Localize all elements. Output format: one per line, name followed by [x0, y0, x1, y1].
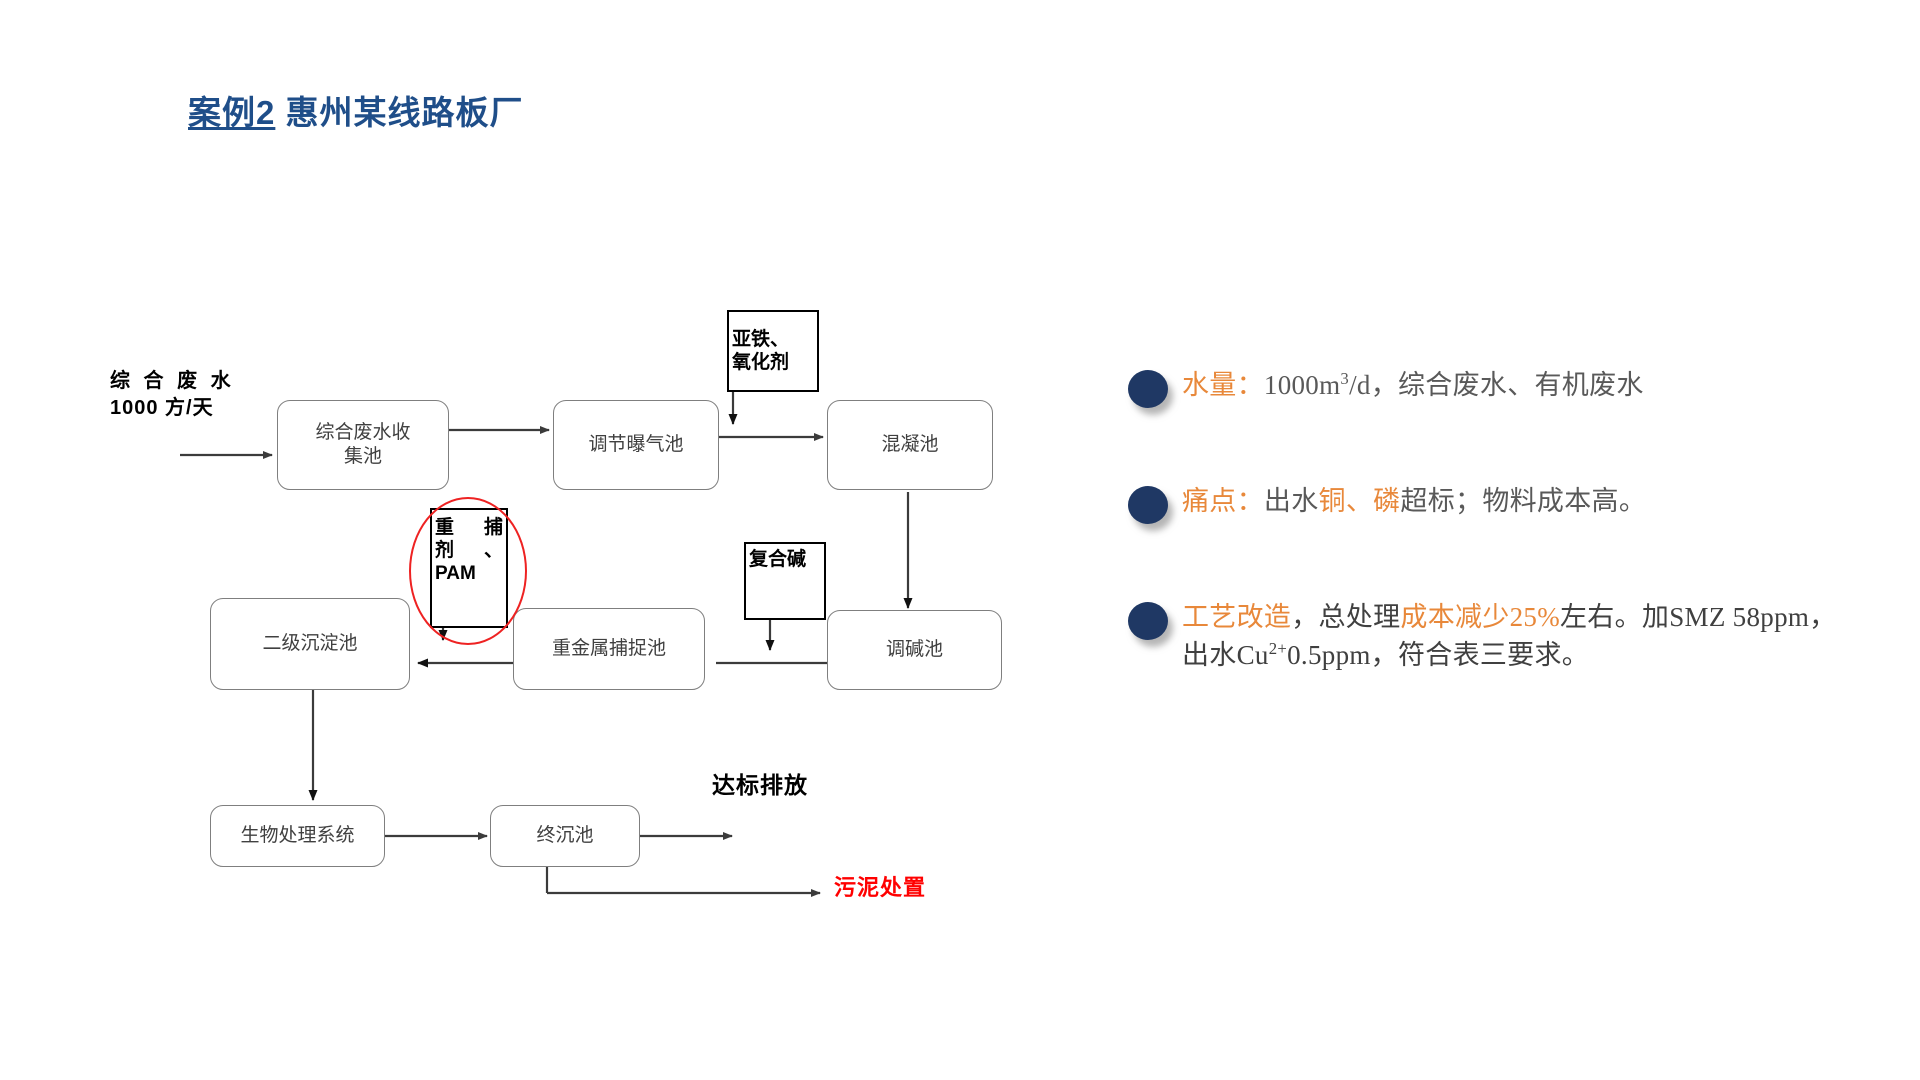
process-box-secondary-settling-tank[interactable]: 二级沉淀池 — [210, 598, 410, 690]
process-box-label: 二级沉淀池 — [262, 632, 357, 656]
process-box-final-settling-tank[interactable]: 终沉池 — [490, 805, 640, 867]
bullet-body-text: ，总处理 — [1291, 602, 1400, 632]
process-box-collect-tank[interactable]: 综合废水收集池 — [277, 400, 449, 490]
summary-bullet-list: 水量：1000m3/d，综合废水、有机废水 痛点：出水铜、磷超标；物料成本高。 … — [1120, 360, 1860, 675]
bullet-item-water-volume: 水量：1000m3/d，综合废水、有机废水 — [1120, 360, 1860, 418]
bullet-text-pain-points: 痛点：出水铜、磷超标；物料成本高。 — [1182, 476, 1646, 520]
process-box-label: 调节曝气池 — [588, 433, 683, 457]
process-box-label: 终沉池 — [536, 824, 593, 848]
bullet-dot-icon — [1128, 486, 1168, 524]
inlet-flow-label-line1: 综 合 废 水 — [110, 368, 235, 395]
process-box-aeration-tank[interactable]: 调节曝气池 — [553, 400, 719, 490]
process-box-label: 生物处理系统 — [240, 824, 354, 848]
bullet-dot-icon — [1128, 370, 1168, 408]
process-box-label: 综合废水收集池 — [315, 421, 410, 470]
inlet-flow-label: 综 合 废 水 1000 方/天 — [110, 368, 235, 422]
bullet-body-text-2: 超标；物料成本高。 — [1400, 486, 1646, 516]
bullet-accent-label: 工艺改造 — [1182, 602, 1291, 632]
bullet-dot-icon — [1128, 602, 1168, 640]
process-box-label: 调碱池 — [886, 638, 943, 662]
process-box-label: 混凝池 — [881, 433, 938, 457]
bullet-superscript: 3 — [1340, 369, 1349, 388]
bullet-accent-label: 痛点： — [1182, 486, 1264, 516]
process-box-coagulation-tank[interactable]: 混凝池 — [827, 400, 993, 490]
process-box-label: 重金属捕捉池 — [552, 637, 666, 661]
highlight-ellipse — [409, 497, 527, 645]
bullet-text-process-improvement: 工艺改造，总处理成本减少25%左右。加SMZ 58ppm，出水Cu2+0.5pp… — [1182, 592, 1860, 675]
process-box-metal-capture-tank[interactable]: 重金属捕捉池 — [513, 608, 705, 690]
bullet-text-water-volume: 水量：1000m3/d，综合废水、有机废水 — [1182, 360, 1644, 404]
diagram-connectors — [0, 0, 1060, 1080]
bullet-accent-label: 水量： — [1182, 370, 1264, 400]
reagent-box-ferrous-oxidant[interactable]: 亚铁、 氧化剂 — [727, 310, 819, 392]
process-flow-diagram: 综 合 废 水 1000 方/天 综合废水收集池 调节曝气池 混凝池 调碱池 重… — [0, 0, 1060, 1080]
reagent-label-line1: 复合碱 — [749, 548, 821, 571]
bullet-item-process-improvement: 工艺改造，总处理成本减少25%左右。加SMZ 58ppm，出水Cu2+0.5pp… — [1120, 592, 1860, 675]
bullet-item-pain-points: 痛点：出水铜、磷超标；物料成本高。 — [1120, 476, 1860, 534]
bullet-dot-wrap — [1120, 476, 1182, 534]
bullet-dot-wrap — [1120, 592, 1182, 650]
bullet-accent-inline: 成本减少25% — [1400, 602, 1560, 632]
inlet-flow-label-line2: 1000 方/天 — [110, 395, 235, 422]
bullet-dot-wrap — [1120, 360, 1182, 418]
reagent-label-line2: 氧化剂 — [732, 351, 814, 374]
reagent-label-line1: 亚铁、 — [732, 328, 814, 351]
bullet-accent-inline: 铜、磷 — [1319, 486, 1401, 516]
bullet-body-text-3: 0.5ppm，符合表三要求。 — [1287, 640, 1589, 670]
bullet-body-text: 出水 — [1264, 486, 1319, 516]
bullet-superscript: 2+ — [1269, 639, 1287, 658]
sludge-disposal-label: 污泥处置 — [834, 873, 926, 903]
bullet-body-text: 1000m — [1264, 370, 1341, 400]
process-box-bio-treatment-system[interactable]: 生物处理系统 — [210, 805, 385, 867]
process-box-alkali-adjust-tank[interactable]: 调碱池 — [827, 610, 1002, 690]
reagent-box-compound-alkali[interactable]: 复合碱 — [744, 542, 826, 620]
bullet-body-text-2: /d，综合废水、有机废水 — [1349, 370, 1644, 400]
discharge-label: 达标排放 — [712, 770, 808, 801]
